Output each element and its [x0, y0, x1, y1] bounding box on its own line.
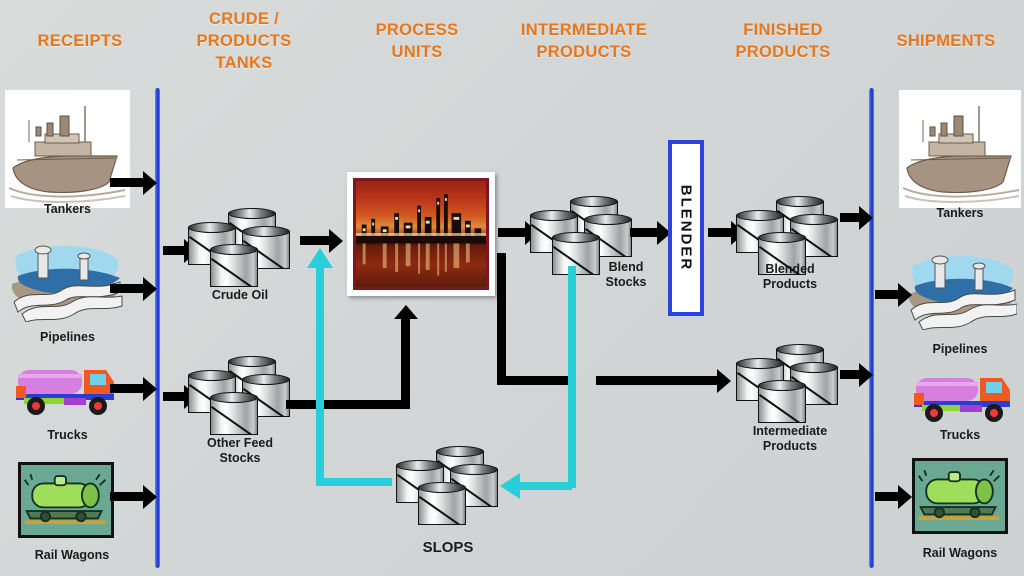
node-label-intermediate-line1: Intermediate — [718, 424, 862, 439]
tank-cluster-intermediate-products — [736, 344, 840, 422]
ship-icon — [899, 90, 1021, 208]
column-header-finished-line2: PRODUCTS — [700, 41, 866, 63]
column-header-shipments: SHIPMENTS — [868, 30, 1024, 52]
receipt-icon-rail-wagons — [18, 462, 114, 538]
tank-cluster-other-feed-stocks — [188, 356, 292, 434]
flow-arrow-rail-in — [110, 492, 144, 501]
flow-arrow-blend-to-blender — [630, 228, 658, 237]
node-label-intermediate-line2: Products — [718, 439, 862, 454]
recycle-arrow-into-slops — [500, 473, 520, 499]
shipment-icon-pipelines — [905, 248, 1017, 330]
column-header-receipts-line1: RECEIPTS — [0, 30, 160, 52]
flow-arrow-trucks-in — [110, 384, 144, 393]
column-header-crude-line1: CRUDE / — [168, 8, 320, 30]
flow-line-process-to-intermediate — [497, 376, 569, 385]
column-header-shipments-line1: SHIPMENTS — [868, 30, 1024, 52]
receipt-label-tankers: Tankers — [5, 202, 130, 217]
node-label-other-feed-line1: Other Feed — [176, 436, 304, 451]
flow-arrow-to-crude-oil — [163, 246, 185, 255]
tank-truck-icon — [908, 370, 1018, 424]
column-header-process-units: PROCESS UNITS — [340, 19, 494, 63]
flow-line-otherfeed-right — [286, 400, 410, 409]
column-header-crude-line2: PRODUCTS — [168, 30, 320, 52]
column-header-finished-products: FINISHED PRODUCTS — [700, 19, 866, 63]
node-label-other-feed-line2: Stocks — [176, 451, 304, 466]
node-label-blend-stocks: Blend Stocks — [578, 260, 674, 290]
shipment-icon-tankers — [899, 90, 1021, 208]
node-label-blend-line1: Blend — [578, 260, 674, 275]
recycle-line-blend-down — [568, 266, 576, 488]
column-header-process-line2: UNITS — [340, 41, 494, 63]
blender-label: BLENDER — [678, 185, 695, 272]
tank-cluster-crude-oil — [188, 208, 292, 286]
shipment-label-pipelines: Pipelines — [899, 342, 1021, 357]
pipelines-icon — [905, 248, 1017, 330]
ship-icon — [5, 90, 130, 208]
flow-arrow-to-other-feed-stocks — [163, 392, 185, 401]
recycle-line-slops-left — [316, 478, 392, 486]
column-header-crude-products-tanks: CRUDE / PRODUCTS TANKS — [168, 8, 320, 74]
flow-arrow-blender-to-blended — [708, 228, 732, 237]
tank-icon — [210, 244, 258, 288]
node-label-crude-oil: Crude Oil — [178, 288, 302, 303]
node-label-blended-line2: Products — [728, 277, 852, 292]
flow-arrow-pipelines-in — [110, 284, 144, 293]
node-label-blended-line1: Blended — [728, 262, 852, 277]
flow-arrow-pipelines-out — [875, 290, 899, 299]
rail-tank-car-icon — [912, 458, 1008, 534]
node-label-blend-line2: Stocks — [578, 275, 674, 290]
recycle-arrow-into-process — [307, 248, 333, 268]
receipt-label-rail-wagons: Rail Wagons — [2, 548, 142, 563]
shipment-icon-trucks — [908, 370, 1018, 424]
shipment-label-tankers: Tankers — [899, 206, 1021, 221]
rail-tank-car-icon — [18, 462, 114, 538]
boundary-line-right — [869, 88, 874, 568]
recycle-line-up-to-process — [316, 268, 324, 482]
tank-icon — [418, 482, 466, 526]
flow-arrow-process-to-blend — [498, 228, 526, 237]
flow-arrow-intermediate-to-shipments — [840, 370, 860, 379]
receipt-icon-pipelines — [8, 238, 124, 322]
shipment-label-trucks: Trucks — [899, 428, 1021, 443]
node-label-slops: SLOPS — [388, 540, 508, 555]
receipt-label-pipelines: Pipelines — [5, 330, 130, 345]
column-header-intermediate-products: INTERMEDIATE PRODUCTS — [498, 19, 670, 63]
column-header-process-line1: PROCESS — [340, 19, 494, 41]
pipelines-icon — [8, 238, 124, 322]
flow-arrow-otherfeed-up — [401, 318, 410, 404]
flow-arrow-tankers-in — [110, 178, 144, 187]
receipt-label-trucks: Trucks — [5, 428, 130, 443]
node-label-intermediate-products: Intermediate Products — [718, 424, 862, 454]
tank-truck-icon — [10, 362, 122, 418]
shipment-icon-rail-wagons — [912, 458, 1008, 534]
shipment-label-rail-wagons: Rail Wagons — [890, 546, 1024, 561]
column-header-crude-line3: TANKS — [168, 52, 320, 74]
tank-icon — [758, 380, 806, 424]
flow-arrow-to-intermediate-products — [596, 376, 718, 385]
flow-arrow-blended-to-shipments — [840, 213, 860, 222]
column-header-receipts: RECEIPTS — [0, 30, 160, 52]
column-header-finished-line1: FINISHED — [700, 19, 866, 41]
node-label-blended-products: Blended Products — [728, 262, 852, 292]
process-units-photo — [347, 172, 495, 296]
recycle-line-to-slops — [518, 482, 572, 490]
tank-cluster-slops — [396, 446, 500, 524]
node-label-other-feed-stocks: Other Feed Stocks — [176, 436, 304, 466]
column-header-intermediate-line2: PRODUCTS — [498, 41, 670, 63]
flow-arrow-crude-to-process — [300, 236, 330, 245]
refinery-silhouette-icon — [356, 181, 486, 287]
tank-icon — [210, 392, 258, 436]
blender-unit: BLENDER — [668, 140, 704, 316]
receipt-icon-trucks — [10, 362, 122, 418]
flow-arrow-rail-out — [875, 492, 899, 501]
refinery-image — [353, 178, 489, 290]
diagram-canvas: RECEIPTS CRUDE / PRODUCTS TANKS PROCESS … — [0, 0, 1024, 576]
column-header-intermediate-line1: INTERMEDIATE — [498, 19, 670, 41]
receipt-icon-tankers — [5, 90, 130, 208]
flow-line-process-down — [497, 253, 506, 381]
